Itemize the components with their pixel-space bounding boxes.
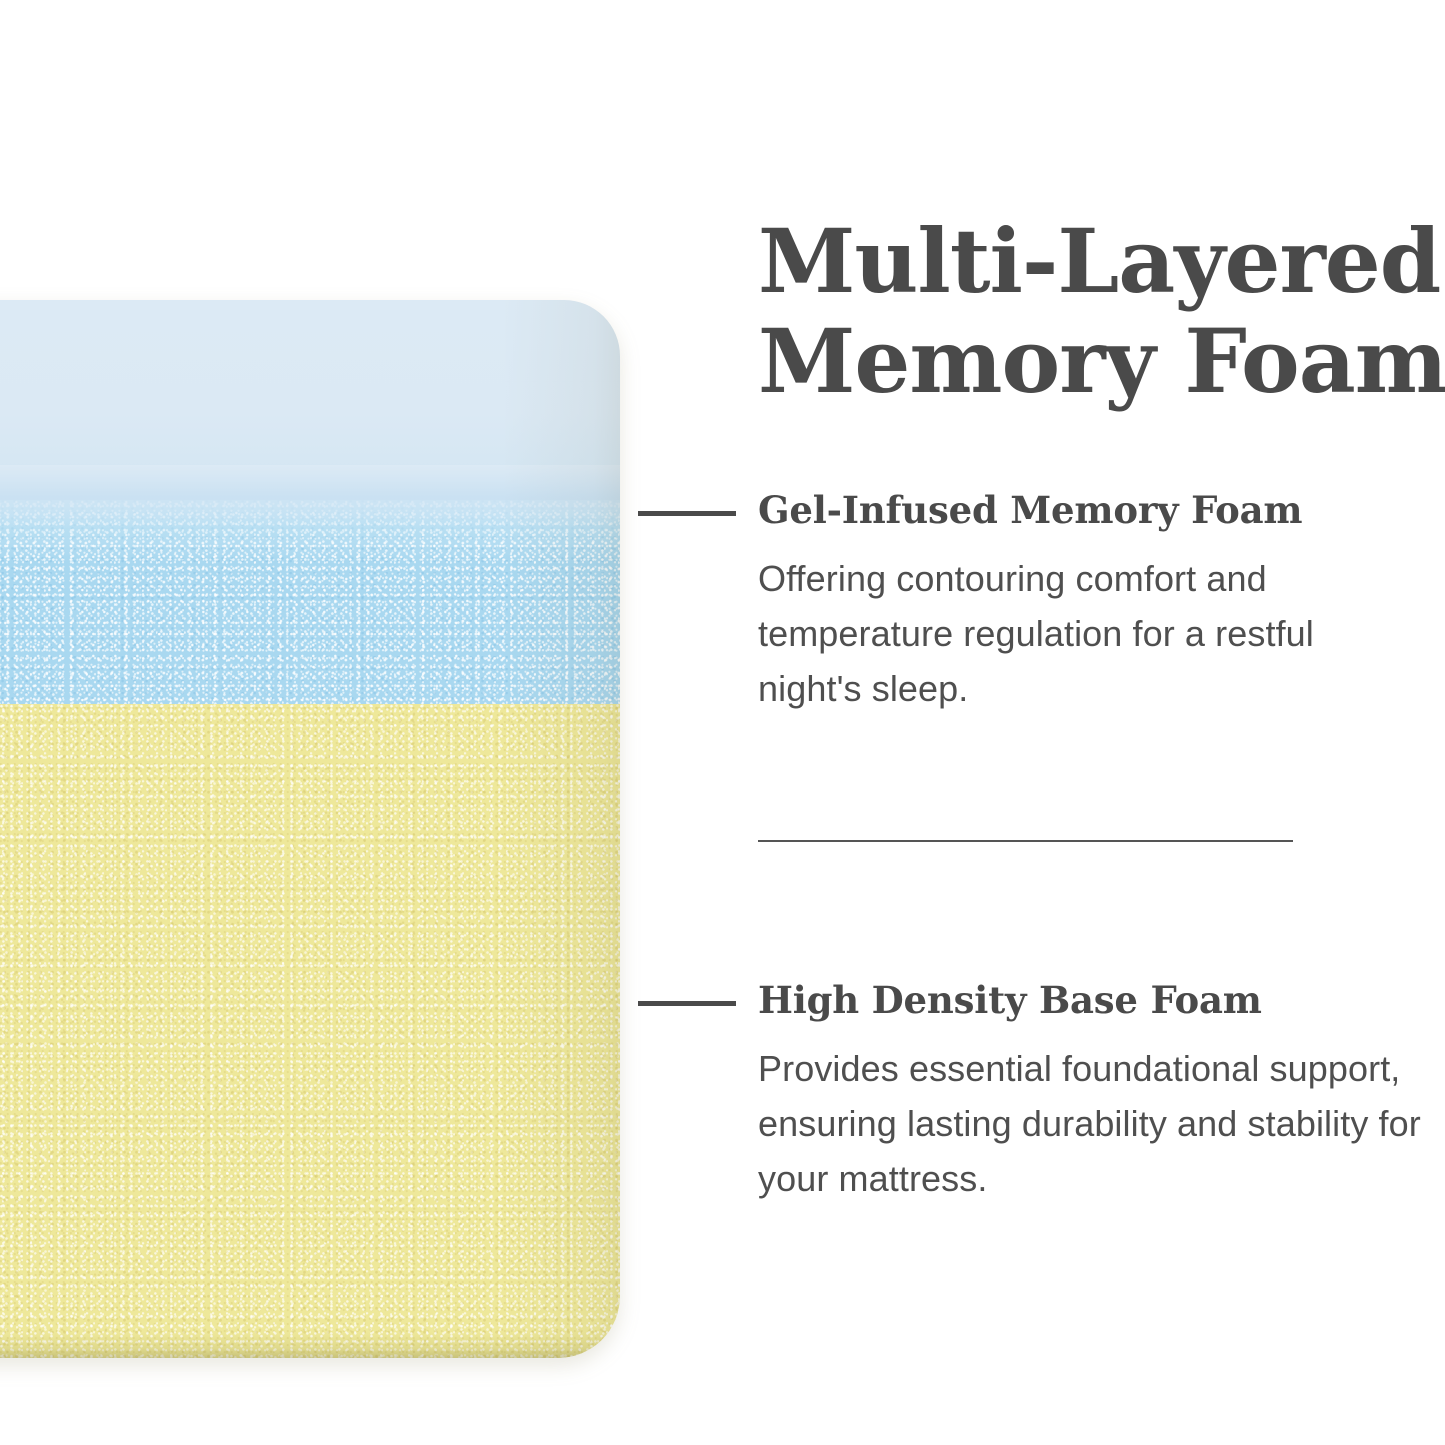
feature-heading-row: Gel-Infused Memory Foam [758,487,1418,539]
leader-line-icon [638,511,736,516]
feature-heading-row: High Density Base Foam [758,977,1418,1029]
page-title-line-1: Multi-Layered [758,211,1398,311]
foam-right-edge-shading [0,300,620,1358]
feature-heading: Gel-Infused Memory Foam [758,487,1302,533]
feature-gel-infused-memory-foam: Gel-Infused Memory Foam Offering contour… [758,487,1418,752]
feature-description: Provides essential foundational support,… [758,1041,1423,1206]
page-title: Multi-Layered Memory Foam [758,211,1398,411]
mattress-foam-block-illustration [0,300,620,1358]
infographic-canvas: Multi-Layered Memory Foam Gel-Infused Me… [0,0,1445,1445]
feature-description: Offering contouring comfort and temperat… [758,551,1423,716]
feature-heading: High Density Base Foam [758,977,1262,1023]
leader-line-icon [638,1001,736,1006]
feature-high-density-base-foam: High Density Base Foam Provides essentia… [758,977,1418,1242]
content-column: Multi-Layered Memory Foam Gel-Infused Me… [758,0,1418,1445]
section-divider [758,840,1293,842]
page-title-line-2: Memory Foam [758,311,1398,411]
